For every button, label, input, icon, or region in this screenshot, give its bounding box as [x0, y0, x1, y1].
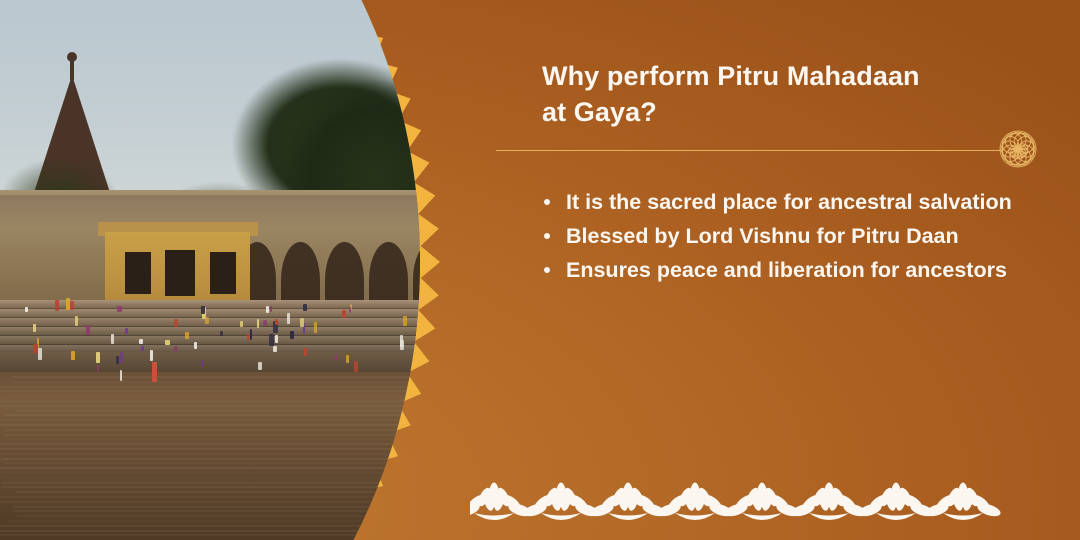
water-ripple	[0, 400, 470, 402]
pilgrim-figure	[349, 307, 352, 313]
pilgrim-figure	[300, 318, 304, 327]
pilgrim-figure	[258, 362, 262, 369]
pilgrim-figure	[250, 329, 252, 340]
list-item: Blessed by Lord Vishnu for Pitru Daan	[536, 220, 1051, 252]
pilgrim-figure	[33, 344, 37, 354]
pilgrim-figure	[38, 348, 42, 360]
pilgrim-figure	[240, 321, 243, 328]
mandala-rosette-icon	[989, 120, 1047, 178]
temple-finial-icon	[70, 58, 74, 80]
pilgrim-figure	[116, 356, 118, 364]
pilgrim-figure	[314, 322, 317, 334]
pilgrim-figure	[304, 348, 307, 356]
pilgrim-figure	[354, 361, 358, 372]
pilgrim-figure	[70, 301, 74, 311]
page-title-line2: at Gaya?	[542, 94, 1012, 130]
pilgrim-figure	[201, 360, 204, 367]
pilgrim-figure	[269, 334, 274, 346]
pilgrim-figure	[125, 328, 128, 335]
pilgrim-figure	[205, 317, 208, 323]
pilgrim-figure	[287, 313, 290, 325]
pilgrim-figure	[75, 316, 77, 326]
pilgrim-figure	[201, 306, 204, 314]
pilgrim-figure	[96, 352, 99, 363]
window	[125, 252, 151, 294]
pilgrim-figure	[174, 346, 177, 351]
pilgrim-figure	[342, 310, 346, 318]
pilgrim-figure	[71, 351, 75, 360]
step	[0, 318, 470, 327]
pilgrim-figure	[152, 362, 157, 382]
pilgrim-figure	[303, 304, 307, 312]
pilgrim-figure	[400, 340, 404, 350]
pilgrim-figure	[150, 350, 153, 361]
pilgrim-figure	[257, 319, 260, 328]
benefits-list: It is the sacred place for ancestral sal…	[536, 186, 1051, 288]
water-ripple	[12, 376, 470, 378]
pilgrim-figure	[111, 334, 114, 344]
pilgrim-figure	[165, 340, 170, 346]
pilgrim-figure	[263, 320, 267, 326]
pilgrim-figure	[33, 324, 36, 332]
water-ripple	[0, 405, 470, 407]
window	[210, 252, 236, 294]
pilgrim-figure	[403, 316, 407, 326]
pilgrim-figure	[117, 306, 122, 313]
pilgrim-figure	[335, 354, 337, 361]
pilgrim-figure	[275, 319, 278, 324]
window	[165, 250, 195, 296]
pilgrim-figure	[55, 300, 59, 311]
pilgrim-figure	[120, 352, 123, 363]
pilgrim-figure	[270, 306, 273, 312]
pilgrim-figure	[120, 370, 122, 381]
list-item: It is the sacred place for ancestral sal…	[536, 186, 1051, 218]
title-divider	[496, 150, 1001, 151]
pilgrim-figure	[86, 325, 90, 336]
pilgrim-figure	[139, 339, 143, 345]
water-ripple	[5, 414, 470, 416]
pilgrim-figure	[185, 332, 189, 339]
pilgrim-figure	[25, 307, 28, 312]
pilgrim-figure	[194, 342, 197, 349]
pilgrim-figure	[290, 331, 294, 339]
lotus-border-icon	[470, 470, 1030, 532]
content-panel: Why perform Pitru Mahadaan at Gaya? It i…	[496, 0, 1080, 540]
pilgrim-figure	[273, 346, 277, 352]
water-ripple	[13, 381, 470, 383]
pilgrim-figure	[346, 355, 349, 363]
pilgrim-figure	[220, 331, 223, 336]
step	[0, 309, 470, 318]
pilgrim-figure	[266, 306, 269, 313]
water-ripple	[4, 395, 470, 397]
slide-root: Why perform Pitru Mahadaan at Gaya? It i…	[0, 0, 1080, 540]
pilgrim-figure	[275, 335, 279, 343]
page-title-line1: Why perform Pitru Mahadaan	[542, 58, 1012, 94]
pilgrim-figure	[174, 319, 178, 327]
water-ripple	[0, 386, 470, 388]
water-ripple	[0, 390, 470, 392]
list-item: Ensures peace and liberation for ancesto…	[536, 254, 1051, 286]
pilgrim-figure	[141, 346, 144, 351]
page-title: Why perform Pitru Mahadaan at Gaya?	[542, 58, 1012, 130]
